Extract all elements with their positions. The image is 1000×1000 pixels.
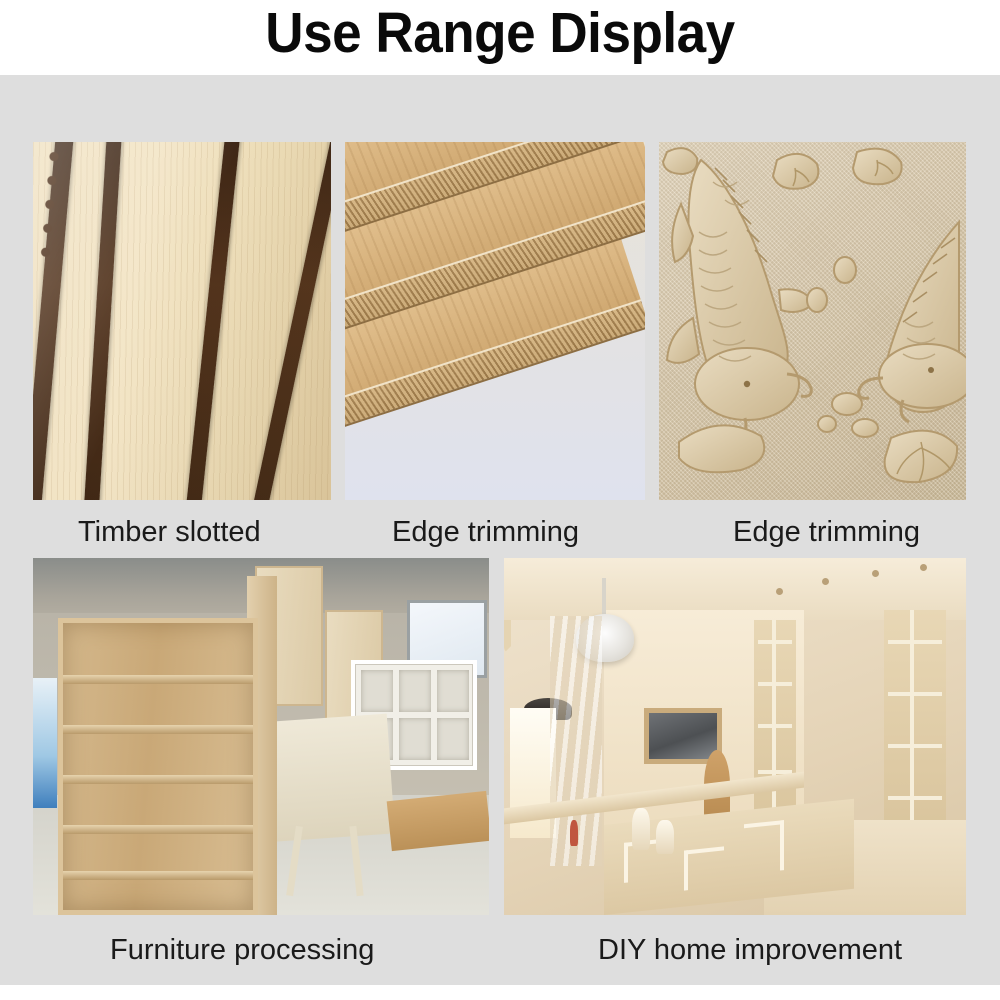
carving-relief-artwork xyxy=(659,142,966,500)
carved-koi-relief-panel-photo xyxy=(659,142,966,500)
caption-furniture-processing: Furniture processing xyxy=(110,933,374,967)
pine-bookcase xyxy=(58,618,258,915)
lattice-bar xyxy=(888,796,942,800)
wood-lattice-partition-right xyxy=(884,610,946,840)
pattern-bar xyxy=(624,842,628,882)
cube-cell xyxy=(437,670,469,712)
cube-cell xyxy=(437,718,469,760)
slotted-timber-panel-photo xyxy=(33,142,331,500)
ceiling-spotlight xyxy=(776,588,783,595)
lattice-bar xyxy=(910,610,914,840)
page-title: Use Range Display xyxy=(35,2,965,64)
bookcase-shelf xyxy=(63,825,253,834)
ceiling-spotlight xyxy=(822,578,829,585)
furniture-workshop-photo xyxy=(33,558,489,915)
lattice-bar xyxy=(888,744,942,748)
workshop-workbench xyxy=(257,714,395,843)
diy-interior-room-photo xyxy=(504,558,966,915)
cube-cell xyxy=(361,670,393,712)
counter-vase-tall xyxy=(632,808,650,850)
counter-bottle-red xyxy=(570,820,578,846)
gallery-canvas: Timber slotted Edge trimming xyxy=(0,75,1000,985)
lattice-bar xyxy=(888,692,942,696)
timber-highlight xyxy=(33,142,331,500)
use-range-display-page: Use Range Display Timber slotted xyxy=(0,0,1000,1000)
chandelier-rod xyxy=(602,578,606,618)
counter-vase-short xyxy=(656,820,674,854)
bookcase-shelf xyxy=(63,675,253,684)
caption-timber-slotted: Timber slotted xyxy=(78,515,261,549)
lattice-bar xyxy=(888,640,942,644)
caption-edge-trimming-carving: Edge trimming xyxy=(733,515,920,549)
pattern-bar xyxy=(684,846,724,854)
pattern-bar xyxy=(684,850,688,890)
stacked-plywood-boards-photo xyxy=(345,142,645,500)
caption-edge-trimming-boards: Edge trimming xyxy=(392,515,579,549)
bookcase-shelf xyxy=(63,725,253,734)
cube-cell xyxy=(399,670,431,712)
ceiling-spotlight xyxy=(920,564,927,571)
bookcase-shelf xyxy=(63,871,253,880)
cube-cell xyxy=(399,718,431,760)
bookcase-shelf xyxy=(63,775,253,784)
caption-diy-home-improvement: DIY home improvement xyxy=(598,933,902,967)
header-bar: Use Range Display xyxy=(0,0,1000,75)
pattern-bar xyxy=(780,820,784,870)
workshop-wood-table xyxy=(387,791,489,851)
ceiling-spotlight xyxy=(872,570,879,577)
pattern-bar xyxy=(744,820,784,828)
workshop-wall-poster xyxy=(33,678,57,808)
